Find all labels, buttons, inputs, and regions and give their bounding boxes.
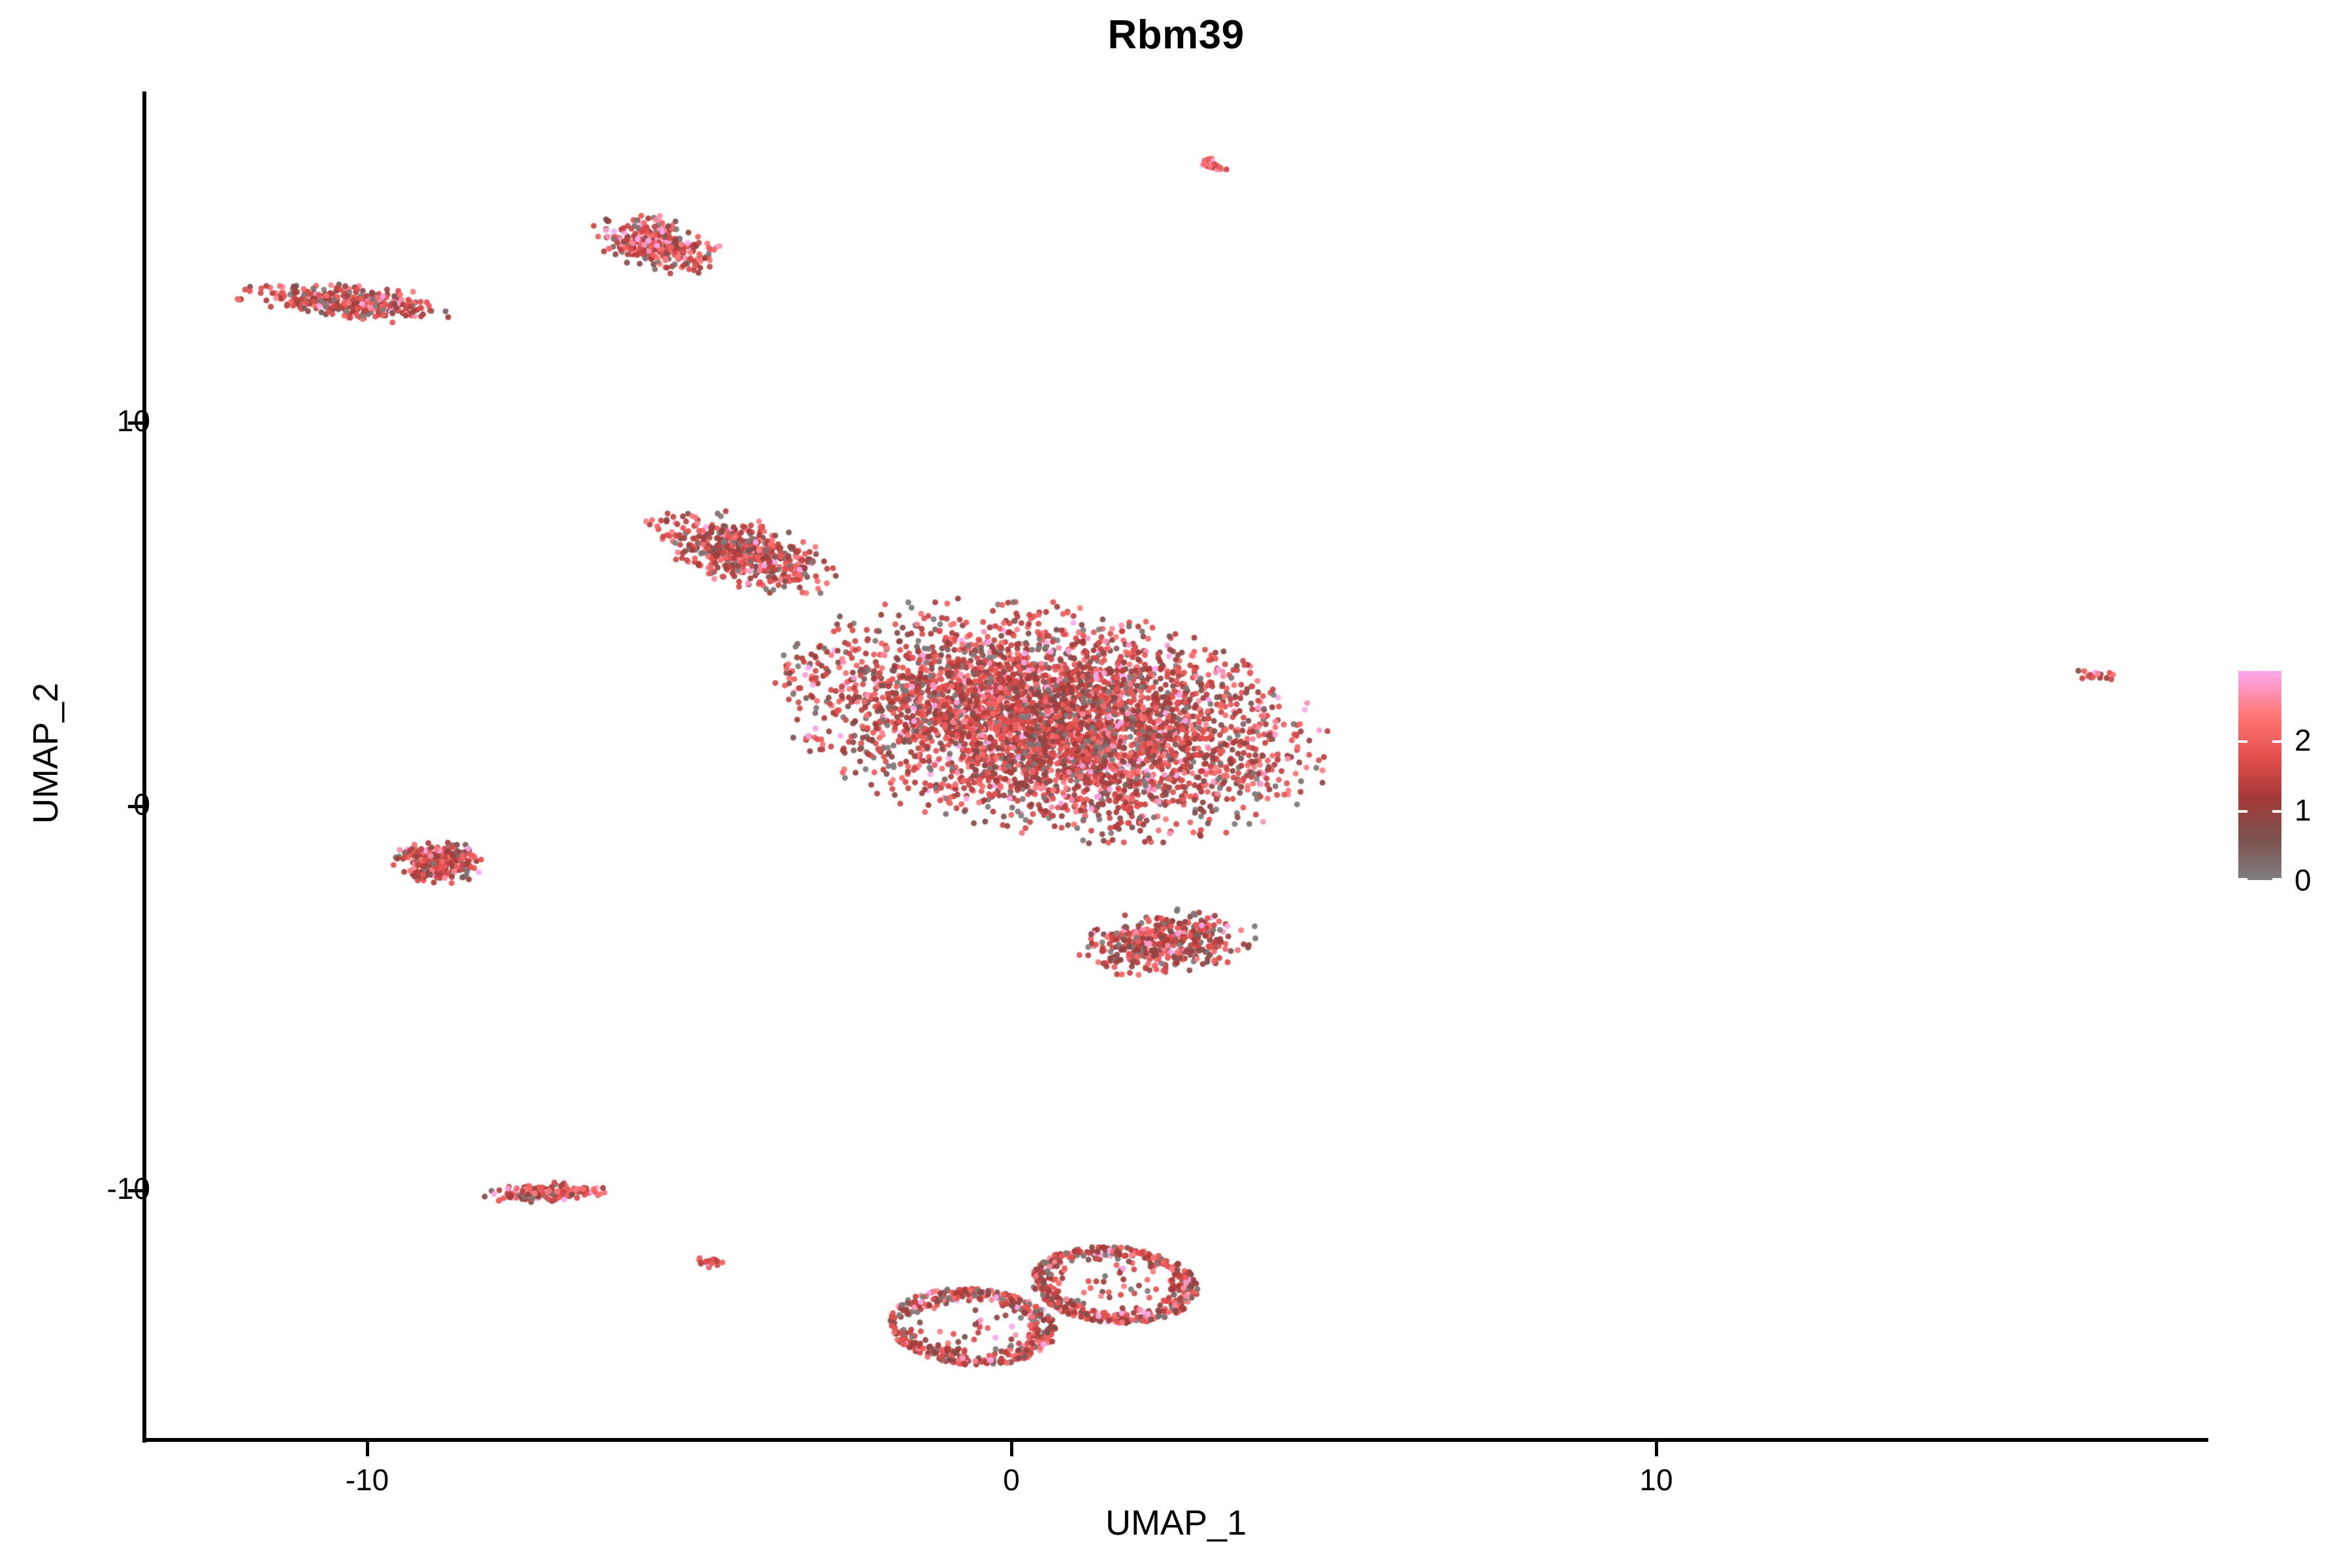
umap-feature-plot: Rbm39 10 0 -10 -10 0 10 UMAP_1 UMAP_2 2 … [0, 0, 2352, 1568]
legend-colorbar [2238, 671, 2281, 880]
y-tick-label-0: 0 [133, 787, 150, 822]
x-axis-title: UMAP_1 [144, 1503, 2208, 1543]
y-axis-line [142, 91, 146, 1443]
legend-label-0: 0 [2295, 862, 2311, 898]
x-tick-mark-0 [1010, 1442, 1013, 1456]
legend-tick-1-left [2238, 810, 2247, 813]
x-tick-label-10: 10 [1639, 1462, 1673, 1497]
legend-label-1: 1 [2295, 792, 2311, 828]
legend-tick-2-right [2272, 740, 2281, 743]
x-tick-label-0: 0 [1003, 1462, 1020, 1497]
scatter-plot-canvas [144, 91, 2208, 1440]
legend-tick-2-left [2238, 740, 2247, 743]
y-axis-title: UMAP_2 [25, 427, 66, 1080]
page-title: Rbm39 [144, 12, 2208, 58]
x-tick-mark-10 [1655, 1442, 1658, 1456]
y-tick-label-neg10: -10 [107, 1171, 150, 1206]
x-tick-mark-neg10 [366, 1442, 369, 1456]
legend-tick-1-right [2272, 810, 2281, 813]
legend-tick-0-right [2272, 878, 2281, 881]
x-axis-line [144, 1438, 2208, 1442]
legend-tick-0-left [2238, 878, 2247, 881]
x-tick-label-neg10: -10 [346, 1462, 389, 1497]
y-tick-label-10: 10 [117, 403, 150, 438]
legend-label-2: 2 [2295, 723, 2311, 758]
